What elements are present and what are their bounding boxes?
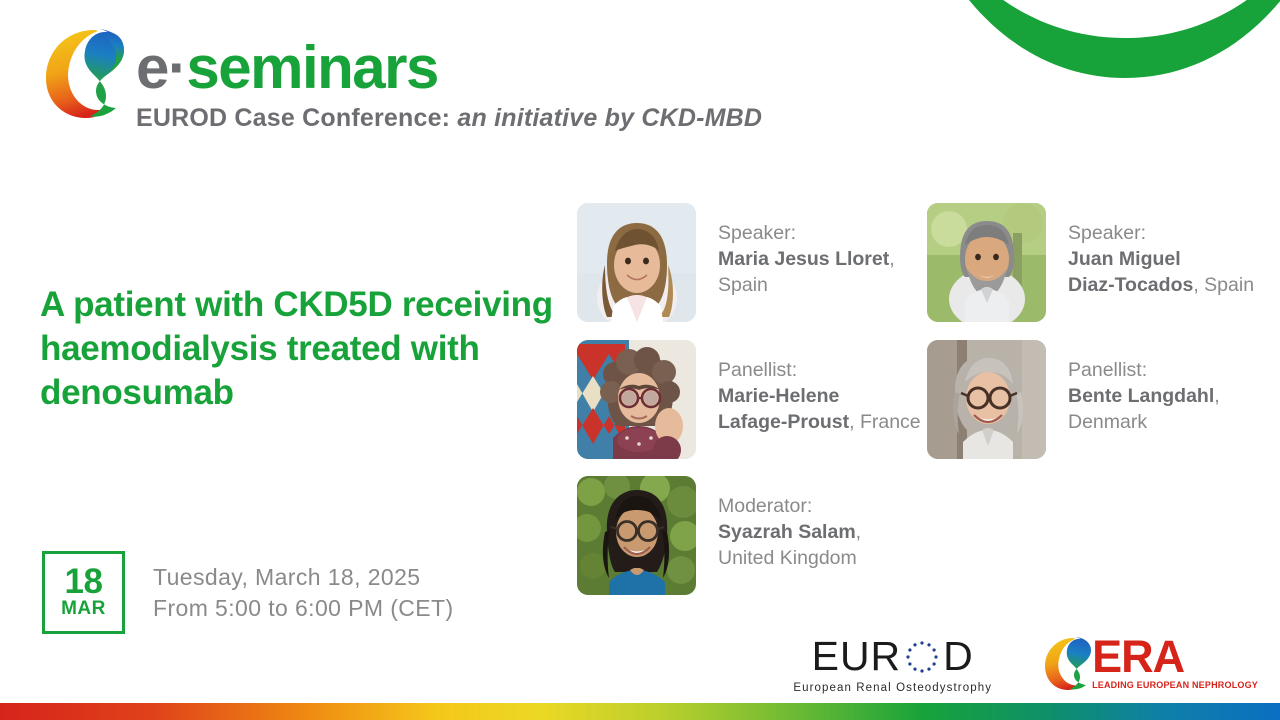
person-info: Panellist: Bente Langdahl, Denmark (1068, 340, 1220, 436)
date-line-2: From 5:00 to 6:00 PM (CET) (153, 593, 454, 623)
person-country: France (860, 411, 921, 433)
subtitle-italic: an initiative by CKD-MBD (457, 104, 762, 132)
person-role: Moderator: (718, 494, 861, 520)
photo-syazrah-salam (577, 476, 696, 595)
eurod-wordmark-part2: D (943, 636, 974, 677)
rainbow-gradient-bar (0, 703, 1280, 720)
person-card-panellist-1: Panellist: Marie-Helene Lafage-Proust, F… (577, 340, 921, 459)
person-name: Maria Jesus Lloret (718, 248, 889, 270)
eu-stars-icon (902, 637, 942, 677)
person-card-speaker-2: Speaker: Juan Miguel Diaz-Tocados, Spain (927, 203, 1254, 322)
header-subtitle: EUROD Case Conference: an initiative by … (136, 104, 762, 133)
person-info: Speaker: Maria Jesus Lloret, Spain (718, 203, 895, 299)
date-line-1: Tuesday, March 18, 2025 (153, 562, 454, 592)
eurod-tagline: European Renal Osteodystrophy (793, 682, 992, 694)
person-card-panellist-2: Panellist: Bente Langdahl, Denmark (927, 340, 1220, 459)
person-name: Syazrah Salam (718, 521, 856, 543)
photo-juan-miguel-diaz-tocados (927, 203, 1046, 322)
date-badge: 18 MAR (42, 551, 125, 634)
date-text: Tuesday, March 18, 2025 From 5:00 to 6:0… (153, 562, 454, 623)
person-name-line2: Lafage-Proust (718, 411, 849, 433)
eurod-logo: EUR (793, 636, 992, 694)
seminar-announcement-slide: e·seminars EUROD Case Conference: an ini… (0, 0, 1280, 720)
person-name-line2: Diaz-Tocados (1068, 274, 1193, 296)
eurod-wordmark-part1: EUR (812, 636, 902, 677)
era-tagline: LEADING EUROPEAN NEPHROLOGY (1092, 680, 1258, 690)
eurod-wordmark: EUR (812, 636, 974, 677)
photo-maria-jesus-lloret (577, 203, 696, 322)
person-role: Speaker: (718, 221, 895, 247)
era-wordmark: ERA (1092, 636, 1258, 679)
person-card-moderator: Moderator: Syazrah Salam, United Kingdom (577, 476, 861, 595)
wordmark: e·seminars (136, 38, 762, 98)
era-text-block: ERA LEADING EUROPEAN NEPHROLOGY (1092, 636, 1258, 690)
brand-text-block: e·seminars EUROD Case Conference: an ini… (136, 24, 762, 133)
green-swoosh-decoration (890, 0, 1280, 138)
e-seminars-logo-icon (38, 20, 142, 124)
person-role: Panellist: (1068, 358, 1220, 384)
photo-marie-helene-lafage-proust (577, 340, 696, 459)
footer-logos: EUR (793, 632, 1258, 694)
era-logo: ERA LEADING EUROPEAN NEPHROLOGY (1040, 632, 1258, 694)
date-day: 18 (65, 565, 103, 598)
wordmark-e: e (136, 34, 168, 101)
person-country: Denmark (1068, 410, 1220, 436)
person-country: Spain (1204, 274, 1254, 296)
date-month: MAR (61, 599, 106, 620)
person-info: Speaker: Juan Miguel Diaz-Tocados, Spain (1068, 203, 1254, 299)
person-role: Speaker: (1068, 221, 1254, 247)
brand-lockup: e·seminars EUROD Case Conference: an ini… (38, 24, 918, 133)
wordmark-seminars: seminars (186, 34, 438, 101)
person-name: Juan Miguel (1068, 247, 1254, 273)
subtitle-strong: EUROD Case Conference: (136, 104, 450, 132)
wordmark-dot: · (168, 34, 186, 101)
header: e·seminars EUROD Case Conference: an ini… (38, 24, 918, 139)
person-info: Moderator: Syazrah Salam, United Kingdom (718, 476, 861, 572)
person-name: Bente Langdahl (1068, 385, 1214, 407)
person-country: Spain (718, 273, 895, 299)
person-role: Panellist: (718, 358, 921, 384)
person-country: United Kingdom (718, 546, 861, 572)
date-block: 18 MAR Tuesday, March 18, 2025 From 5:00… (42, 551, 454, 634)
photo-bente-langdahl (927, 340, 1046, 459)
person-name: Marie-Helene (718, 384, 921, 410)
session-title: A patient with CKD5D receiving haemodial… (40, 283, 570, 415)
person-info: Panellist: Marie-Helene Lafage-Proust, F… (718, 340, 921, 436)
person-card-speaker-1: Speaker: Maria Jesus Lloret, Spain (577, 203, 895, 322)
